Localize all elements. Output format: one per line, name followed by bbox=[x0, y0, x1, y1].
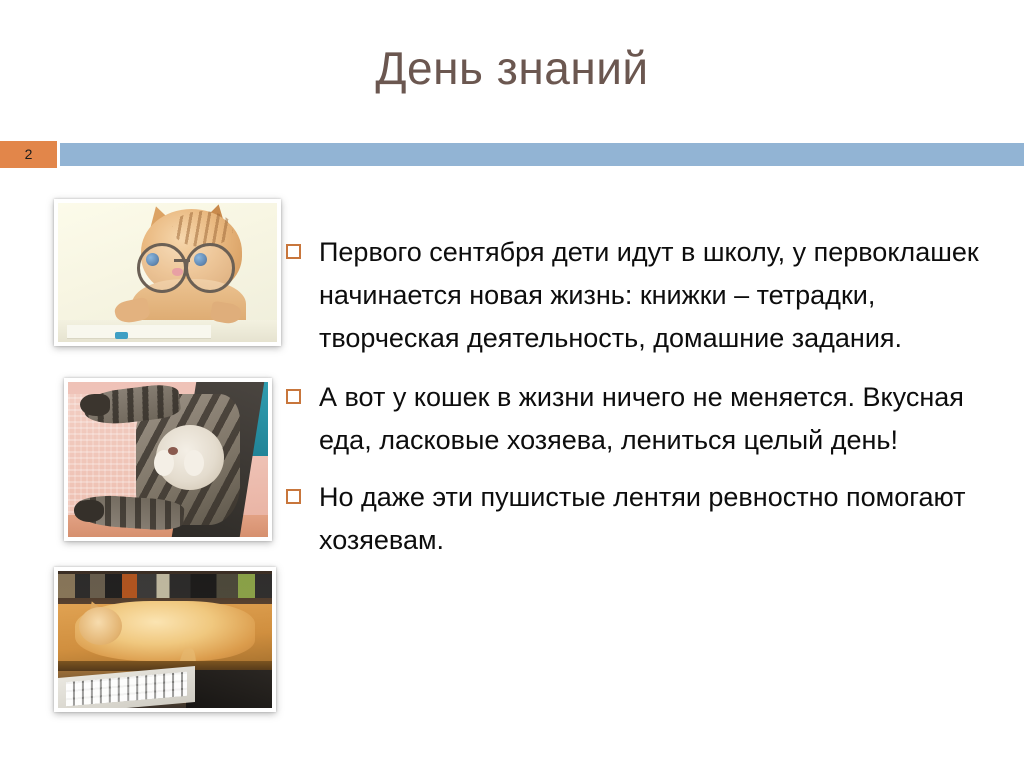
photo1-glasses-lens-right bbox=[185, 243, 235, 293]
bullet-text: А вот у кошек в жизни ничего не меняется… bbox=[319, 376, 996, 462]
photo3-cat-head bbox=[79, 607, 122, 645]
photo1-glasses-bridge bbox=[174, 259, 190, 262]
page-title: День знаний bbox=[0, 40, 1024, 96]
photo-ginger-cat-on-desk bbox=[54, 567, 276, 712]
header-divider-bar bbox=[60, 143, 1024, 166]
square-outline-bullet-icon bbox=[286, 244, 301, 259]
page-number-badge: 2 bbox=[0, 141, 57, 168]
list-item: Но даже эти пушистые лентяи ревностно по… bbox=[286, 476, 996, 562]
square-outline-bullet-icon bbox=[286, 389, 301, 404]
photo-kitten-with-glasses-canvas bbox=[58, 203, 277, 342]
photo-sleeping-tabby-on-pink-blanket bbox=[64, 378, 272, 541]
photo-sleeping-tabby-canvas bbox=[68, 382, 268, 537]
presentation-slide: День знаний 2 bbox=[0, 0, 1024, 767]
bullet-text: Но даже эти пушистые лентяи ревностно по… bbox=[319, 476, 996, 562]
photo3-dark-area bbox=[186, 670, 272, 708]
photo1-book bbox=[67, 325, 212, 338]
list-item: Первого сентября дети идут в школу, у пе… bbox=[286, 231, 996, 360]
photo3-desk-clutter bbox=[58, 574, 272, 599]
photo2-paw-upper bbox=[80, 394, 110, 416]
photo-kitten-with-glasses bbox=[54, 199, 281, 346]
bullet-text: Первого сентября дети идут в школу, у пе… bbox=[319, 231, 996, 360]
photo2-paw-lower bbox=[74, 500, 104, 522]
photo2-cheek-right bbox=[184, 450, 204, 476]
photo-ginger-cat-canvas bbox=[58, 571, 272, 708]
photo3-keyboard-keys bbox=[66, 672, 187, 707]
list-item: А вот у кошек в жизни ничего не меняется… bbox=[286, 376, 996, 462]
bullet-list: Первого сентября дети идут в школу, у пе… bbox=[286, 231, 996, 578]
square-outline-bullet-icon bbox=[286, 489, 301, 504]
photo1-pen bbox=[115, 332, 128, 339]
